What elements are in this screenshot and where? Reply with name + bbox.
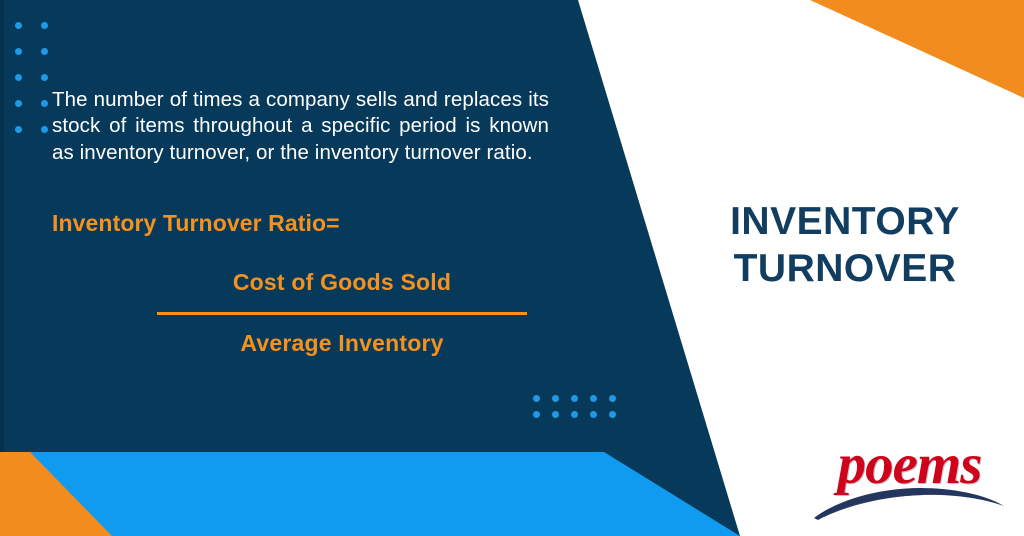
decorative-dot (571, 395, 578, 402)
decorative-dot (15, 74, 22, 81)
decorative-dot (41, 100, 48, 107)
infographic-canvas: The number of times a company sells and … (0, 0, 1024, 536)
formula-fraction-bar (157, 312, 527, 315)
decorative-dot (15, 48, 22, 55)
navy-left-edge-strip (0, 0, 4, 452)
decorative-dot (552, 411, 559, 418)
decorative-dot (15, 22, 22, 29)
decorative-dot (533, 411, 540, 418)
decorative-dot (609, 395, 616, 402)
page-title-line-1: INVENTORY (690, 198, 1000, 245)
page-title: INVENTORY TURNOVER (690, 198, 1000, 292)
orange-top-right-triangle (760, 0, 1024, 110)
decorative-dot (552, 395, 559, 402)
decorative-dot (41, 74, 48, 81)
formula-ratio-label: Inventory Turnover Ratio= (52, 210, 552, 237)
definition-paragraph: The number of times a company sells and … (52, 87, 549, 167)
formula-fraction: Cost of Goods Sold Average Inventory (157, 270, 527, 357)
decorative-dot (590, 411, 597, 418)
brand-logo: poems (812, 432, 1007, 522)
formula-block: Inventory Turnover Ratio= Cost of Goods … (52, 210, 552, 357)
decorative-dot (41, 126, 48, 133)
page-title-line-2: TURNOVER (690, 245, 1000, 292)
decorative-dot (41, 22, 48, 29)
decorative-dot (533, 395, 540, 402)
swoosh-icon (812, 484, 1007, 522)
formula-numerator: Cost of Goods Sold (157, 270, 527, 295)
decorative-dot (41, 48, 48, 55)
decorative-dot (590, 395, 597, 402)
decorative-dot (15, 126, 22, 133)
decorative-dot (609, 411, 616, 418)
formula-denominator: Average Inventory (157, 331, 527, 356)
dot-grid-bottom-center (533, 395, 628, 427)
decorative-dot (571, 411, 578, 418)
orange-bottom-left-wedge (0, 452, 200, 536)
decorative-dot (15, 100, 22, 107)
